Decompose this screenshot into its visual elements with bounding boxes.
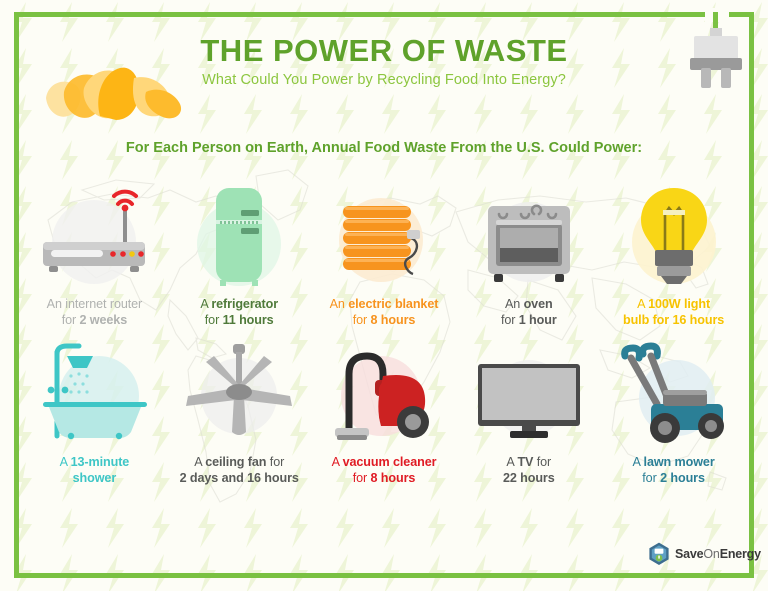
television-icon: [466, 340, 592, 448]
page-subtitle: What Could You Power by Recycling Food I…: [0, 72, 768, 88]
caption-refrigerator: A refrigerator for 11 hours: [200, 296, 278, 328]
appliance-cell-vacuum-cleaner: A vacuum cleaner for 8 hours: [312, 336, 457, 486]
icon-wrap: [312, 178, 457, 290]
refrigerator-icon: [176, 180, 302, 290]
ceiling-fan-icon: [176, 340, 302, 448]
shower-bathtub-icon: [31, 340, 157, 448]
appliance-grid: An internet router for 2 weeks: [22, 178, 746, 486]
electric-blanket-icon: [321, 180, 447, 290]
internet-router-icon: [31, 180, 157, 290]
appliance-cell-router: An internet router for 2 weeks: [22, 178, 167, 328]
infographic-canvas: THE POWER OF WASTE What Could You Power …: [0, 0, 768, 591]
appliance-row-1: An internet router for 2 weeks: [22, 178, 746, 328]
header: THE POWER OF WASTE What Could You Power …: [0, 34, 768, 88]
oven-icon: [466, 180, 592, 290]
caption-tv: A TV for 22 hours: [503, 454, 555, 486]
caption-vacuum-cleaner: A vacuum cleaner for 8 hours: [332, 454, 437, 486]
icon-wrap: [456, 178, 601, 290]
appliance-cell-lawn-mower: A lawn mower for 2 hours: [601, 336, 746, 486]
appliance-cell-refrigerator: A refrigerator for 11 hours: [167, 178, 312, 328]
icon-wrap: [167, 178, 312, 290]
caption-oven: An oven for 1 hour: [501, 296, 557, 328]
icon-wrap: [312, 336, 457, 448]
lawn-mower-icon: [611, 340, 737, 448]
icon-wrap: [601, 336, 746, 448]
icon-wrap: [167, 336, 312, 448]
saveonenergy-hexagon-icon: [648, 542, 670, 566]
icon-wrap: [456, 336, 601, 448]
caption-lawn-mower: A lawn mower for 2 hours: [633, 454, 715, 486]
appliance-cell-electric-blanket: An electric blanket for 8 hours: [312, 178, 457, 328]
page-title: THE POWER OF WASTE: [0, 34, 768, 67]
icon-wrap: [22, 178, 167, 290]
section-heading: For Each Person on Earth, Annual Food Wa…: [0, 140, 768, 156]
saveonenergy-logo[interactable]: SaveOnEnergy: [648, 542, 761, 566]
icon-wrap: [22, 336, 167, 448]
light-bulb-icon: [611, 180, 737, 290]
caption-light-bulb: A 100W light bulb for 16 hours: [623, 296, 724, 328]
icon-wrap: [601, 178, 746, 290]
caption-ceiling-fan: A ceiling fan for 2 days and 16 hours: [180, 454, 299, 486]
appliance-cell-oven: An oven for 1 hour: [456, 178, 601, 328]
caption-shower: A 13-minute shower: [60, 454, 130, 486]
caption-electric-blanket: An electric blanket for 8 hours: [330, 296, 439, 328]
appliance-cell-tv: A TV for 22 hours: [456, 336, 601, 486]
appliance-cell-ceiling-fan: A ceiling fan for 2 days and 16 hours: [167, 336, 312, 486]
caption-router: An internet router for 2 weeks: [47, 296, 143, 328]
logo-wordmark: SaveOnEnergy: [675, 547, 761, 561]
appliance-cell-light-bulb: A 100W light bulb for 16 hours: [601, 178, 746, 328]
appliance-cell-shower: A 13-minute shower: [22, 336, 167, 486]
vacuum-cleaner-icon: [321, 340, 447, 448]
appliance-row-2: A 13-minute shower: [22, 336, 746, 486]
